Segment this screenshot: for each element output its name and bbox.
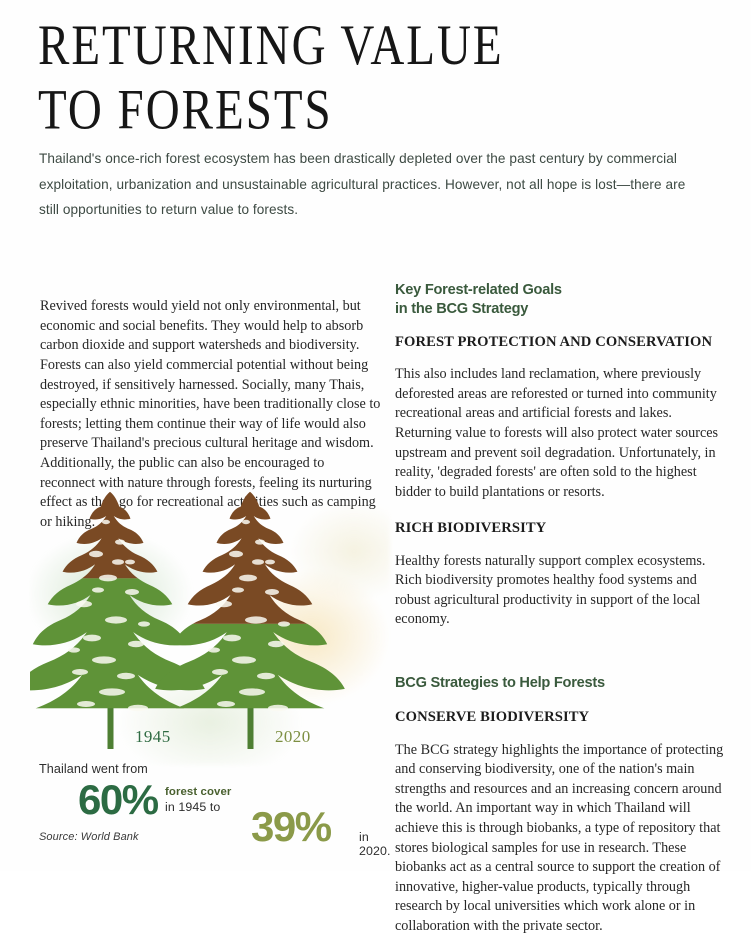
page-title: RETURNING VALUE TO FORESTS bbox=[38, 14, 698, 143]
stat-tail-text: in 2020. bbox=[359, 830, 391, 858]
tree-2020 bbox=[155, 492, 345, 749]
subsection-body-rich-biodiversity: Healthy forests naturally support comple… bbox=[395, 552, 725, 630]
infographic-page: RETURNING VALUE TO FORESTS Thailand's on… bbox=[0, 0, 751, 871]
tree-2020-trunk bbox=[248, 702, 254, 749]
subsection-heading-forest-protection: FOREST PROTECTION AND CONSERVATION bbox=[395, 334, 725, 351]
subsection-heading-conserve-biodiversity: CONSERVE BIODIVERSITY bbox=[395, 709, 725, 726]
forest-cover-illustration: 1945 2020 bbox=[30, 480, 390, 765]
statistics-block: Thailand went from 60% forest cover in 1… bbox=[39, 762, 389, 862]
subsection-rich-biodiversity: RICH BIODIVERSITY Healthy forests natura… bbox=[395, 520, 725, 630]
section-heading-key-goals: Key Forest-related Goals in the BCG Stra… bbox=[395, 281, 725, 318]
year-label-2020: 2020 bbox=[275, 727, 311, 747]
stat-lead-text: Thailand went from bbox=[39, 762, 148, 776]
right-column: Key Forest-related Goals in the BCG Stra… bbox=[395, 281, 725, 951]
stat-value-2020: 39% bbox=[251, 806, 331, 848]
tree-1945 bbox=[30, 492, 205, 749]
year-label-1945: 1945 bbox=[135, 727, 171, 747]
section-heading-bcg-strategies: BCG Strategies to Help Forests bbox=[395, 674, 725, 693]
source-credit: Source: World Bank bbox=[39, 831, 139, 843]
subsection-forest-protection: FOREST PROTECTION AND CONSERVATION This … bbox=[395, 334, 725, 502]
tree-comparison-graphic bbox=[30, 480, 390, 765]
intro-paragraph: Thailand's once-rich forest ecosystem ha… bbox=[39, 146, 689, 223]
subsection-body-conserve-biodiversity: The BCG strategy highlights the importan… bbox=[395, 741, 725, 937]
subsection-heading-rich-biodiversity: RICH BIODIVERSITY bbox=[395, 520, 725, 537]
stat-label-forest-cover: forest cover bbox=[165, 786, 270, 798]
subsection-conserve-biodiversity: CONSERVE BIODIVERSITY The BCG strategy h… bbox=[395, 709, 725, 936]
subsection-body-forest-protection: This also includes land reclamation, whe… bbox=[395, 365, 725, 502]
tree-1945-trunk bbox=[108, 702, 114, 749]
stat-value-1945: 60% bbox=[78, 779, 158, 821]
